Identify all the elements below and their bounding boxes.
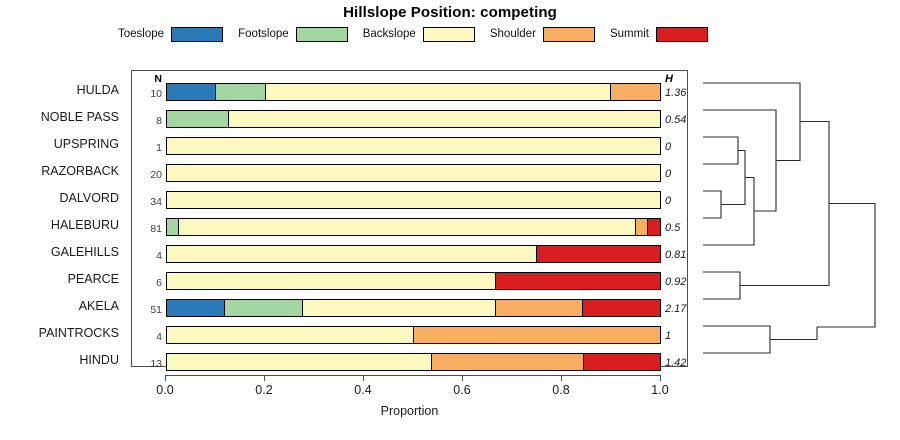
bar-segment-footslope[interactable]: [216, 84, 265, 100]
legend-swatch-toeslope: [171, 27, 223, 42]
dendro-link-root: [817, 204, 875, 328]
bar-segment-summit[interactable]: [537, 246, 660, 262]
bar-segment-backslope[interactable]: [167, 192, 660, 208]
dendro-link-hulda-cluster: [703, 83, 800, 161]
bar-row: 200: [132, 160, 689, 187]
dendro-link-ab-galehills: [703, 178, 754, 246]
legend-item-footslope: Footslope: [238, 27, 348, 42]
stacked-bar[interactable]: [166, 272, 661, 290]
row-n-value: 20: [132, 169, 162, 181]
y-axis-label-upspring: UPSPRING: [0, 137, 119, 151]
y-axis-label-pearce: PEARCE: [0, 272, 119, 286]
row-n-value: 81: [132, 223, 162, 235]
y-axis-label-paintrocks: PAINTROCKS: [0, 326, 119, 340]
bar-segment-footslope[interactable]: [167, 111, 229, 127]
legend-item-shoulder: Shoulder: [490, 27, 595, 42]
bar-segment-backslope[interactable]: [167, 138, 660, 154]
y-axis-label-hindu: HINDU: [0, 353, 119, 367]
row-n-value: 34: [132, 196, 162, 208]
bar-segment-toeslope[interactable]: [167, 84, 216, 100]
legend-swatch-backslope: [423, 27, 475, 42]
dendro-link-upper-lower: [740, 122, 829, 286]
x-tick-label: 0.0: [135, 383, 195, 397]
y-axis-label-noble-pass: NOBLE PASS: [0, 110, 119, 124]
bar-row: 340: [132, 187, 689, 214]
dendro-link-paintrocks-hindu: [703, 326, 770, 353]
bar-segment-footslope[interactable]: [225, 300, 302, 316]
dendro-link-bottom-upper: [703, 301, 817, 340]
stacked-bar[interactable]: [166, 164, 661, 182]
bar-row: 80.54: [132, 106, 689, 133]
bar-segment-backslope[interactable]: [167, 354, 432, 370]
dendrogram: [695, 62, 900, 372]
stacked-bar[interactable]: [166, 245, 661, 263]
page-title: Hillslope Position: competing: [0, 4, 900, 21]
legend-label-shoulder: Shoulder: [490, 28, 536, 40]
legend-item-summit: Summit: [610, 27, 708, 42]
x-tick: [363, 375, 364, 381]
legend: Toeslope Footslope Backslope Shoulder Su…: [118, 24, 708, 44]
bar-segment-shoulder[interactable]: [432, 354, 584, 370]
bar-row: 40.81: [132, 241, 689, 268]
legend-label-toeslope: Toeslope: [118, 28, 164, 40]
stacked-bar[interactable]: [166, 299, 661, 317]
legend-item-toeslope: Toeslope: [118, 27, 223, 42]
row-n-value: 6: [132, 277, 162, 289]
x-tick: [561, 375, 562, 381]
bar-segment-toeslope[interactable]: [167, 300, 225, 316]
legend-swatch-footslope: [296, 27, 348, 42]
row-n-value: 8: [132, 115, 162, 127]
x-axis-title: Proportion: [131, 404, 688, 418]
x-axis: 0.00.20.40.60.81.0: [131, 375, 688, 387]
bar-row: 10: [132, 133, 689, 160]
plot-panel: N H 101.3680.5410200340810.540.8160.9251…: [131, 70, 688, 367]
bar-segment-backslope[interactable]: [167, 165, 660, 181]
x-tick: [165, 375, 166, 381]
bar-segment-shoulder[interactable]: [636, 219, 648, 235]
dendro-link-a-b: [721, 151, 745, 205]
x-axis-line: [165, 375, 660, 376]
bar-segment-backslope[interactable]: [266, 84, 611, 100]
stacked-bar[interactable]: [166, 218, 661, 236]
x-tick-label: 0.8: [531, 383, 591, 397]
bar-row: 810.5: [132, 214, 689, 241]
y-axis-label-akela: AKELA: [0, 299, 119, 313]
bar-segment-backslope[interactable]: [229, 111, 660, 127]
legend-swatch-summit: [656, 27, 708, 42]
legend-label-backslope: Backslope: [363, 28, 416, 40]
x-tick: [660, 375, 661, 381]
bar-segment-shoulder[interactable]: [414, 327, 661, 343]
bar-row: 41: [132, 322, 689, 349]
stacked-bar[interactable]: [166, 137, 661, 155]
x-tick-label: 0.4: [333, 383, 393, 397]
row-n-value: 10: [132, 88, 162, 100]
bar-segment-summit[interactable]: [583, 300, 660, 316]
row-n-value: 51: [132, 304, 162, 316]
legend-label-summit: Summit: [610, 28, 649, 40]
stacked-bar[interactable]: [166, 353, 661, 371]
x-tick: [462, 375, 463, 381]
bar-segment-backslope[interactable]: [167, 273, 496, 289]
stacked-bar[interactable]: [166, 326, 661, 344]
y-axis-labels: HULDANOBLE PASSUPSPRINGRAZORBACKDALVORDH…: [0, 70, 125, 367]
row-n-value: 4: [132, 331, 162, 343]
stacked-bar[interactable]: [166, 191, 661, 209]
bar-segment-shoulder[interactable]: [611, 84, 660, 100]
dendro-link-noble-cluster: [703, 110, 776, 211]
stacked-bar[interactable]: [166, 83, 661, 101]
bar-segment-backslope[interactable]: [303, 300, 496, 316]
bar-row: 101.36: [132, 79, 689, 106]
bar-row: 131.42: [132, 349, 689, 376]
dendro-link-upspring-razorback: [703, 137, 738, 164]
bar-segment-summit[interactable]: [496, 273, 660, 289]
dendro-link-pearce-akela: [703, 272, 740, 299]
y-axis-label-razorback: RAZORBACK: [0, 164, 119, 178]
bar-segment-summit[interactable]: [648, 219, 660, 235]
y-axis-label-galehills: GALEHILLS: [0, 245, 119, 259]
x-tick-label: 1.0: [630, 383, 690, 397]
bar-segment-footslope[interactable]: [167, 219, 179, 235]
x-tick-label: 0.2: [234, 383, 294, 397]
bar-segment-summit[interactable]: [584, 354, 660, 370]
bar-row: 512.17: [132, 295, 689, 322]
legend-label-footslope: Footslope: [238, 28, 289, 40]
bar-segment-backslope[interactable]: [167, 246, 537, 262]
dendro-link-dalvord-haleburu: [703, 191, 721, 218]
stacked-bar[interactable]: [166, 110, 661, 128]
row-n-value: 1: [132, 142, 162, 154]
bar-segment-backslope[interactable]: [179, 219, 636, 235]
y-axis-label-hulda: HULDA: [0, 83, 119, 97]
bar-segment-backslope[interactable]: [167, 327, 414, 343]
bar-row: 60.92: [132, 268, 689, 295]
legend-item-backslope: Backslope: [363, 27, 475, 42]
row-n-value: 13: [132, 358, 162, 370]
row-n-value: 4: [132, 250, 162, 262]
x-tick: [264, 375, 265, 381]
x-tick-label: 0.6: [432, 383, 492, 397]
y-axis-label-dalvord: DALVORD: [0, 191, 119, 205]
bar-segment-shoulder[interactable]: [496, 300, 583, 316]
y-axis-label-haleburu: HALEBURU: [0, 218, 119, 232]
legend-swatch-shoulder: [543, 27, 595, 42]
dendrogram-svg: [695, 62, 900, 372]
